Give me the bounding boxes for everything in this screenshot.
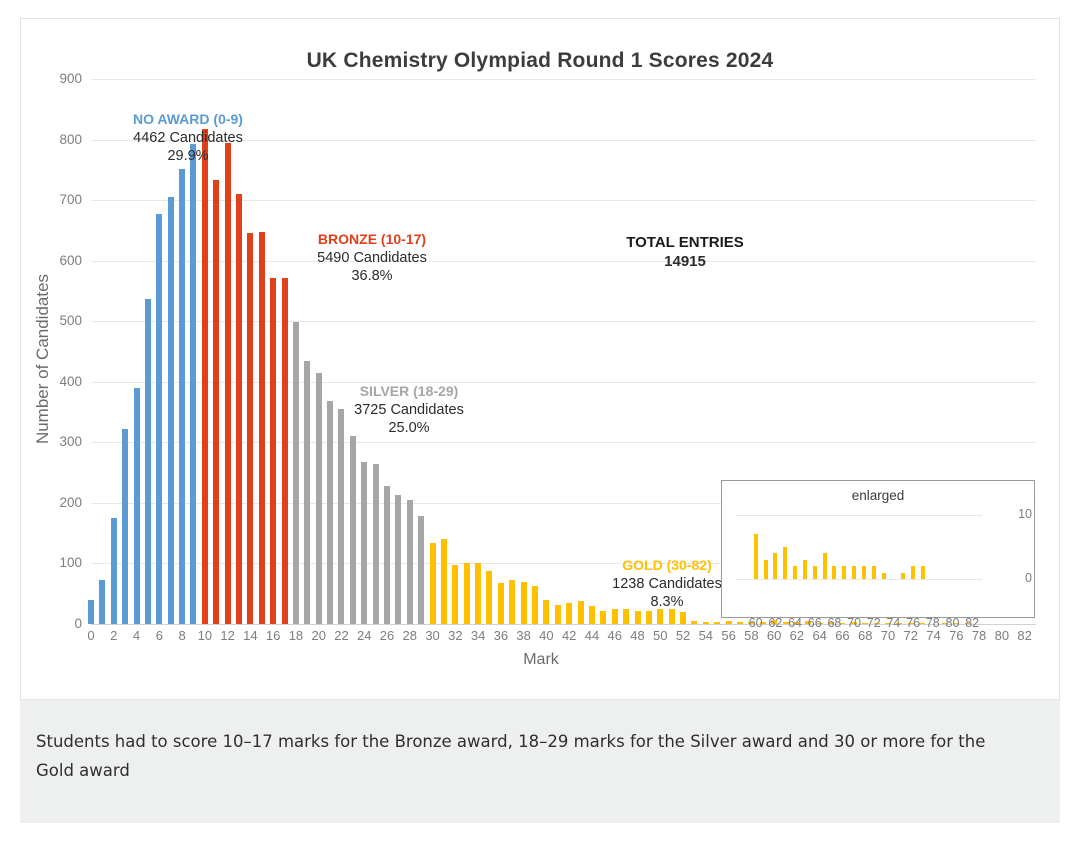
annotation-silver: SILVER (18-29) 3725 Candidates 25.0% <box>313 383 505 438</box>
bar <box>259 232 265 624</box>
page-root: UK Chemistry Olympiad Round 1 Scores 202… <box>0 0 1080 843</box>
bar <box>714 622 720 624</box>
inset-bar <box>872 566 876 579</box>
inset-x-axis-tick-label: 76 <box>902 616 924 630</box>
caption-band: Students had to score 10–17 marks for th… <box>20 700 1060 823</box>
inset-x-axis-tick-label: 80 <box>941 616 963 630</box>
y-axis-tick-label: 200 <box>35 495 91 510</box>
annotation-bronze-percent: 36.8% <box>279 267 465 286</box>
bar <box>373 464 379 624</box>
y-axis-label: Number of Candidates <box>33 119 53 599</box>
bar <box>168 197 174 624</box>
y-axis-tick-label: 900 <box>35 71 91 86</box>
annotation-silver-percent: 25.0% <box>313 419 505 438</box>
y-axis-tick-label: 300 <box>35 434 91 449</box>
bar <box>156 214 162 624</box>
bar <box>338 409 344 624</box>
annotation-no-award: NO AWARD (0-9) 4462 Candidates 29.9% <box>103 111 273 166</box>
inset-gridline <box>736 515 982 516</box>
inset-x-axis-tick-label: 64 <box>784 616 806 630</box>
inset-bar <box>832 566 836 579</box>
inset-bar <box>754 534 758 579</box>
bar <box>145 299 151 624</box>
bar <box>600 611 606 624</box>
inset-bar <box>842 566 846 579</box>
bar <box>270 278 276 624</box>
annotation-bronze-head: BRONZE (10-17) <box>279 231 465 249</box>
y-axis-tick-label: 100 <box>35 555 91 570</box>
bar <box>498 583 504 624</box>
annotation-no-award-candidates: 4462 Candidates <box>103 129 273 148</box>
inset-chart: enlarged 010 606264666870727476788082 <box>721 480 1035 618</box>
bar <box>521 582 527 624</box>
x-axis-label: Mark <box>21 651 1061 669</box>
inset-bar <box>813 566 817 579</box>
annotation-total-value: 14915 <box>579 252 791 271</box>
bar <box>635 611 641 624</box>
inset-title: enlarged <box>722 488 1034 503</box>
bar <box>441 539 447 624</box>
y-axis-tick-label: 800 <box>35 132 91 147</box>
bar <box>293 322 299 624</box>
bar <box>532 586 538 624</box>
bar <box>407 500 413 624</box>
y-axis-tick-label: 400 <box>35 374 91 389</box>
inset-bar <box>764 560 768 579</box>
bar <box>247 233 253 624</box>
bar <box>304 361 310 624</box>
bar <box>88 600 94 624</box>
inset-bar <box>911 566 915 579</box>
inset-plot-area: 010 606264666870727476788082 <box>736 515 982 579</box>
bar <box>737 622 743 624</box>
bar <box>99 580 105 624</box>
bar <box>509 580 515 624</box>
bar <box>395 495 401 624</box>
inset-bar <box>862 566 866 579</box>
bar <box>202 129 208 624</box>
bar <box>430 543 436 624</box>
annotation-total-head: TOTAL ENTRIES <box>579 233 791 252</box>
y-axis-tick-label: 500 <box>35 313 91 328</box>
inset-bar <box>803 560 807 579</box>
bar <box>555 605 561 624</box>
inset-x-axis-tick-label: 72 <box>863 616 885 630</box>
annotation-silver-candidates: 3725 Candidates <box>313 401 505 420</box>
bar <box>486 571 492 624</box>
bar <box>350 436 356 624</box>
bar <box>384 486 390 624</box>
bar <box>190 144 196 624</box>
annotation-no-award-percent: 29.9% <box>103 147 273 166</box>
inset-bar <box>773 553 777 579</box>
bar <box>213 180 219 624</box>
caption-text: Students had to score 10–17 marks for th… <box>36 728 1026 786</box>
bar <box>282 278 288 624</box>
bar <box>225 143 231 624</box>
bar <box>464 563 470 624</box>
bar <box>452 565 458 624</box>
bar <box>361 462 367 624</box>
bar <box>691 621 697 624</box>
bar <box>122 429 128 624</box>
bar <box>418 516 424 624</box>
annotation-bronze-candidates: 5490 Candidates <box>279 249 465 268</box>
chart-card: UK Chemistry Olympiad Round 1 Scores 202… <box>20 18 1060 700</box>
inset-bar <box>823 553 827 579</box>
bar <box>111 518 117 624</box>
bar <box>680 612 686 624</box>
annotation-total-entries: TOTAL ENTRIES 14915 <box>579 233 791 271</box>
bar <box>236 194 242 624</box>
inset-bar <box>901 573 905 579</box>
bar <box>134 388 140 624</box>
inset-y-axis-tick-label: 10 <box>988 507 1032 521</box>
inset-y-axis-tick-label: 0 <box>988 571 1032 585</box>
bar <box>646 611 652 624</box>
y-axis-tick-label: 600 <box>35 253 91 268</box>
annotation-bronze: BRONZE (10-17) 5490 Candidates 36.8% <box>279 231 465 286</box>
inset-bar <box>882 573 886 579</box>
inset-x-axis-tick-label: 68 <box>823 616 845 630</box>
inset-bar <box>783 547 787 579</box>
y-axis-tick-label: 700 <box>35 192 91 207</box>
bar <box>726 621 732 624</box>
inset-bar <box>921 566 925 579</box>
annotation-no-award-head: NO AWARD (0-9) <box>103 111 273 129</box>
bar <box>703 622 709 624</box>
annotation-silver-head: SILVER (18-29) <box>313 383 505 401</box>
bar <box>475 563 481 624</box>
inset-gridline <box>736 579 982 580</box>
bar <box>543 600 549 624</box>
inset-bar <box>852 566 856 579</box>
x-axis-tick-label: 82 <box>1010 628 1040 643</box>
inset-x-axis-tick-label: 60 <box>745 616 767 630</box>
inset-bar <box>793 566 797 579</box>
inset-x-axis-tick-label: 82 <box>961 616 983 630</box>
bar <box>179 169 185 624</box>
